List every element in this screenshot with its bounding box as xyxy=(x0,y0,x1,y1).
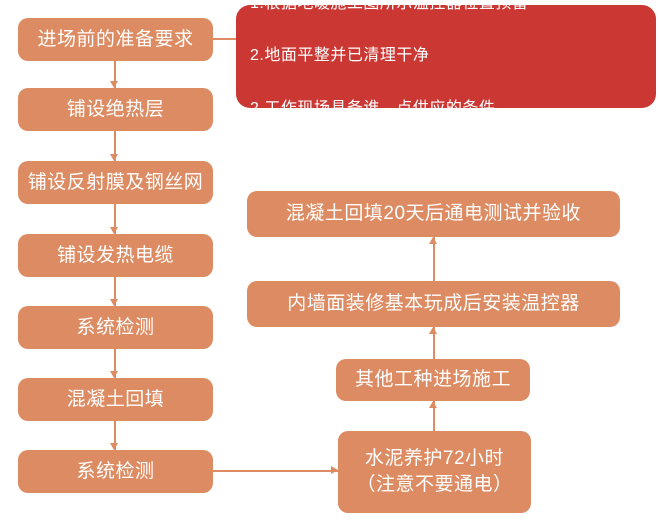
node-system-test-2[interactable]: 系统检测 xyxy=(18,450,213,493)
node-install-thermostat[interactable]: 内墙面装修基本玩成后安装温控器 xyxy=(247,281,620,327)
node-other-trades[interactable]: 其他工种进场施工 xyxy=(336,359,530,401)
note-line-3: 2.工作现场具备谁、点供应的条件 xyxy=(250,96,528,122)
node-reflective-film[interactable]: 铺设反射膜及钢丝网 xyxy=(18,161,213,204)
node-heating-cable[interactable]: 铺设发热电缆 xyxy=(18,234,213,277)
node-concrete-backfill[interactable]: 混凝土回填 xyxy=(18,378,213,421)
arrowhead-thermostat-to-accept xyxy=(429,237,437,244)
note-prep-requirements: 1.根据地暖施工图所示温控器位置预留 2.地面平整并已清理干净 2.工作现场具备… xyxy=(236,5,656,108)
arrowhead-reflect-to-cable xyxy=(110,227,118,234)
arrowhead-test2-to-curing xyxy=(331,466,338,474)
node-insulation[interactable]: 铺设绝热层 xyxy=(18,88,213,131)
note-line-1: 1.根据地暖施工图所示温控器位置预留 xyxy=(250,0,528,17)
connector-prep-to-note xyxy=(213,38,236,40)
arrowhead-other-to-thermostat xyxy=(429,327,437,334)
note-line-2: 2.地面平整并已清理干净 xyxy=(250,43,528,69)
arrowhead-backfill-to-test2 xyxy=(110,443,118,450)
arrowhead-curing-to-other xyxy=(429,401,437,408)
flowchart-canvas: 进场前的准备要求 铺设绝热层 铺设反射膜及钢丝网 铺设发热电缆 系统检测 混凝土… xyxy=(0,0,659,523)
node-acceptance-test[interactable]: 混凝土回填20天后通电测试并验收 xyxy=(247,191,620,237)
node-prep[interactable]: 进场前的准备要求 xyxy=(18,18,213,61)
arrowhead-prep-to-insulation xyxy=(110,81,118,88)
arrowhead-test1-to-backfill xyxy=(110,371,118,378)
arrowhead-insulation-to-reflect xyxy=(110,154,118,161)
connector-test2-to-curing xyxy=(213,470,338,472)
note-lines: 1.根据地暖施工图所示温控器位置预留 2.地面平整并已清理干净 2.工作现场具备… xyxy=(250,0,528,149)
node-cement-curing[interactable]: 水泥养护72小时 （注意不要通电） xyxy=(338,431,531,513)
arrowhead-cable-to-test1 xyxy=(110,299,118,306)
node-system-test-1[interactable]: 系统检测 xyxy=(18,306,213,349)
